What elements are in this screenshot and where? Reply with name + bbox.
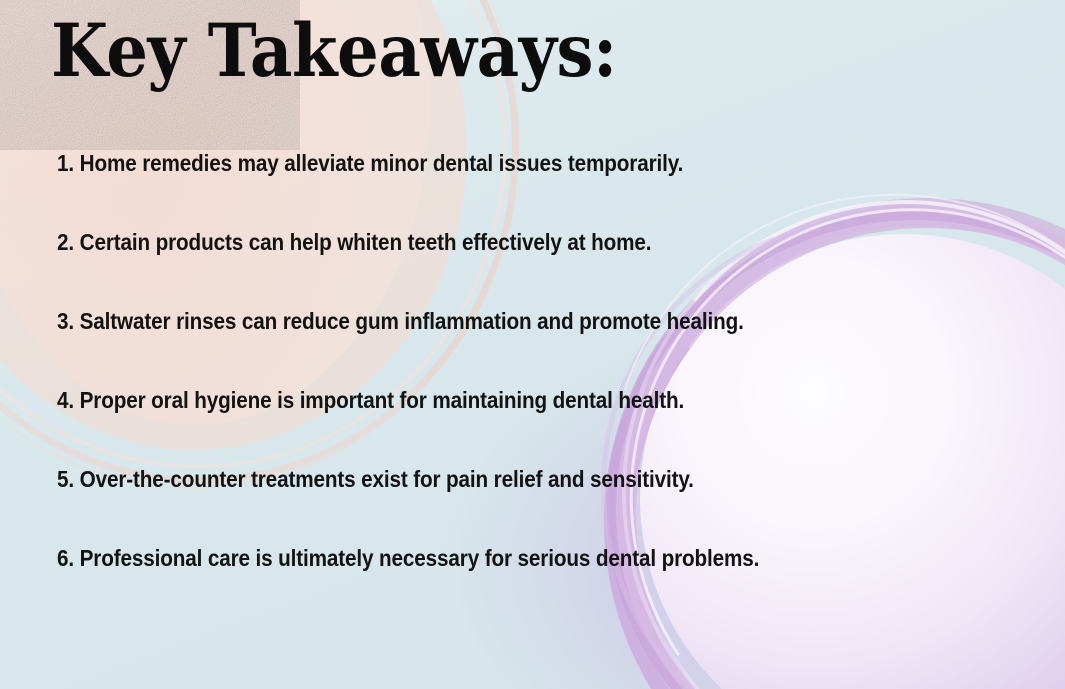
page-title: Key Takeaways:: [51, 14, 617, 88]
list-item: 6. Professional care is ultimately neces…: [57, 547, 912, 626]
list-item: 3. Saltwater rinses can reduce gum infla…: [57, 310, 912, 389]
list-item: 4. Proper oral hygiene is important for …: [57, 389, 912, 468]
list-item: 2. Certain products can help whiten teet…: [57, 231, 912, 310]
list-item-number: 2.: [57, 229, 74, 255]
list-item-number: 4.: [57, 387, 74, 413]
list-item-number: 6.: [57, 545, 74, 571]
list-item-text: Proper oral hygiene is important for mai…: [80, 387, 685, 413]
content-layer: Key Takeaways: 1. Home remedies may alle…: [0, 0, 1065, 689]
list-item: 1. Home remedies may alleviate minor den…: [57, 152, 912, 231]
list-item-text: Certain products can help whiten teeth e…: [80, 229, 652, 255]
list-item-text: Professional care is ultimately necessar…: [80, 545, 760, 571]
list-item-text: Over-the-counter treatments exist for pa…: [80, 466, 694, 492]
list-item-number: 3.: [57, 308, 74, 334]
list-item-text: Saltwater rinses can reduce gum inflamma…: [80, 308, 744, 334]
list-item-number: 1.: [57, 150, 74, 176]
list-item: 5. Over-the-counter treatments exist for…: [57, 468, 912, 547]
key-takeaways-graphic: Key Takeaways: 1. Home remedies may alle…: [0, 0, 1065, 689]
list-item-text: Home remedies may alleviate minor dental…: [80, 150, 684, 176]
list-item-number: 5.: [57, 466, 74, 492]
takeaways-list: 1. Home remedies may alleviate minor den…: [57, 152, 1007, 626]
